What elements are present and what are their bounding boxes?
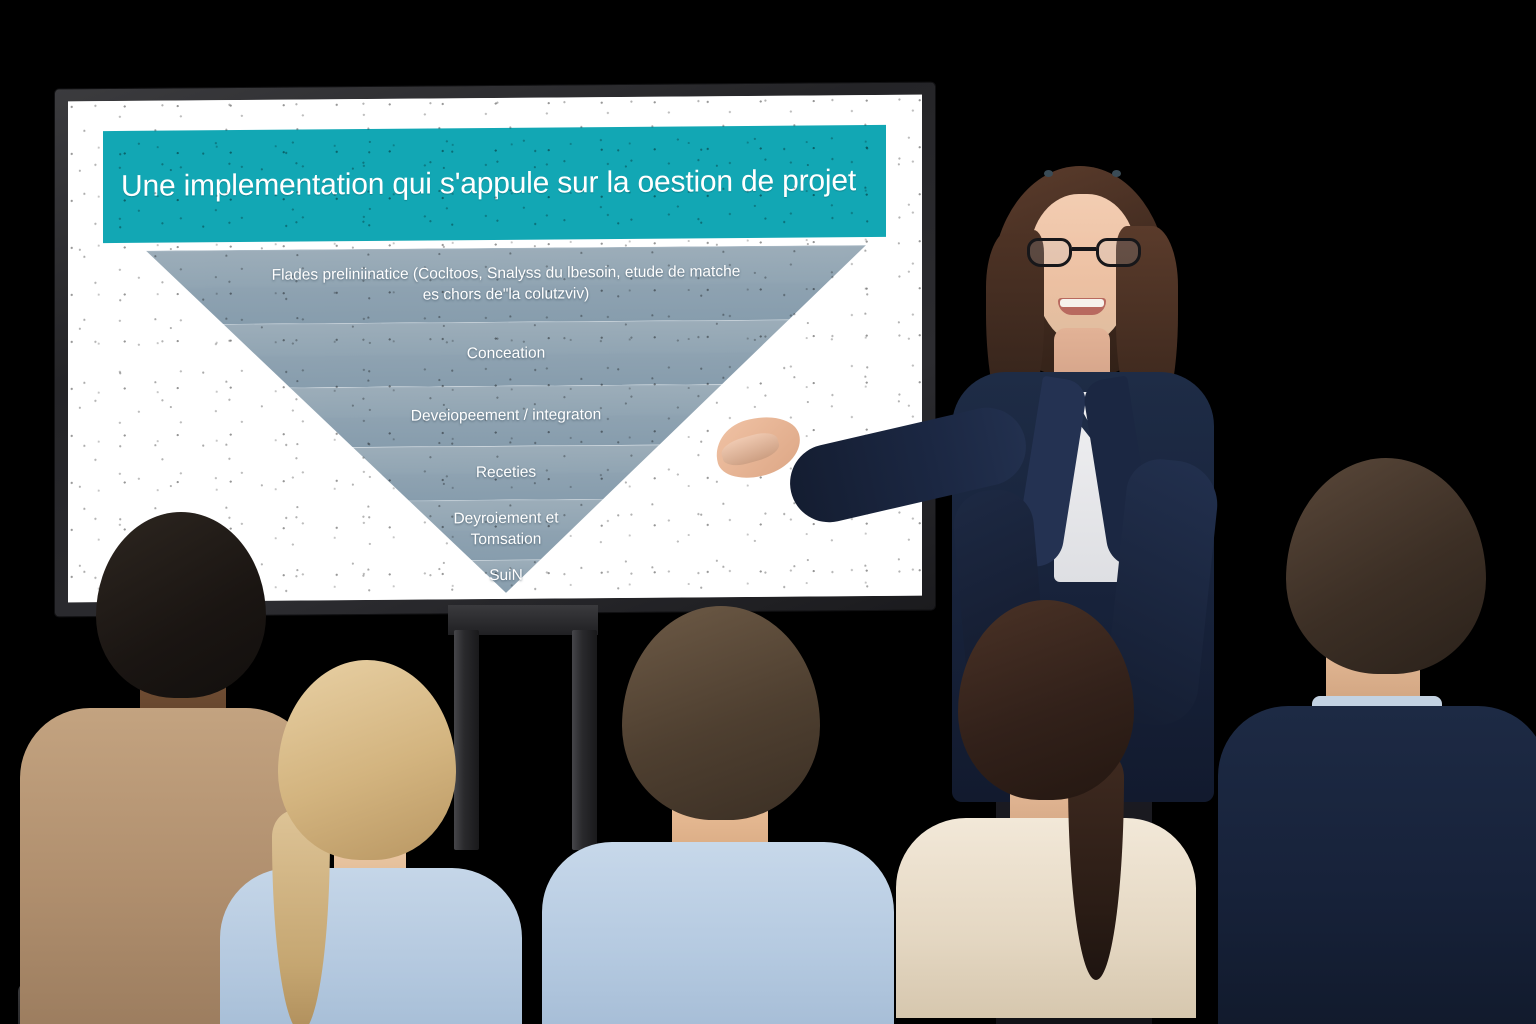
slide-title: Une implementation qui s'appule sur la o… — [103, 164, 856, 204]
presentation-scene: Une implementation qui s'appule sur la o… — [0, 0, 1536, 1024]
funnel-band-fill — [146, 245, 866, 325]
presenter-eye-left — [1044, 170, 1053, 177]
audience-member-4 — [930, 600, 1180, 1024]
glasses-bridge — [1072, 247, 1096, 251]
audience-4-torso — [896, 818, 1196, 1018]
audience-member-3 — [592, 606, 852, 1024]
audience-3-torso — [542, 842, 894, 1024]
audience-5-torso — [1218, 706, 1536, 1024]
funnel-band-fill — [146, 319, 866, 388]
funnel-band-2: Conceation — [146, 319, 866, 388]
glasses-lens-right — [1096, 238, 1141, 267]
glasses-icon — [1026, 238, 1142, 268]
presenter-teeth — [1060, 299, 1104, 307]
presenter-eye-right — [1112, 170, 1121, 177]
audience-1-head — [96, 512, 266, 698]
glasses-lens-left — [1027, 238, 1072, 267]
audience-3-head — [622, 606, 820, 820]
slide-title-bar: Une implementation qui s'appule sur la o… — [103, 125, 886, 243]
audience-5-head — [1286, 458, 1486, 674]
audience-4-head — [958, 600, 1134, 800]
audience-member-2 — [248, 660, 498, 1024]
presenter-mouth — [1058, 298, 1106, 315]
audience-member-5 — [1252, 458, 1536, 1024]
funnel-band-1: Flades preliniinatice (Cocltoos, Snalyss… — [146, 245, 866, 325]
audience-2-head — [278, 660, 456, 860]
audience-2-torso — [220, 868, 522, 1024]
